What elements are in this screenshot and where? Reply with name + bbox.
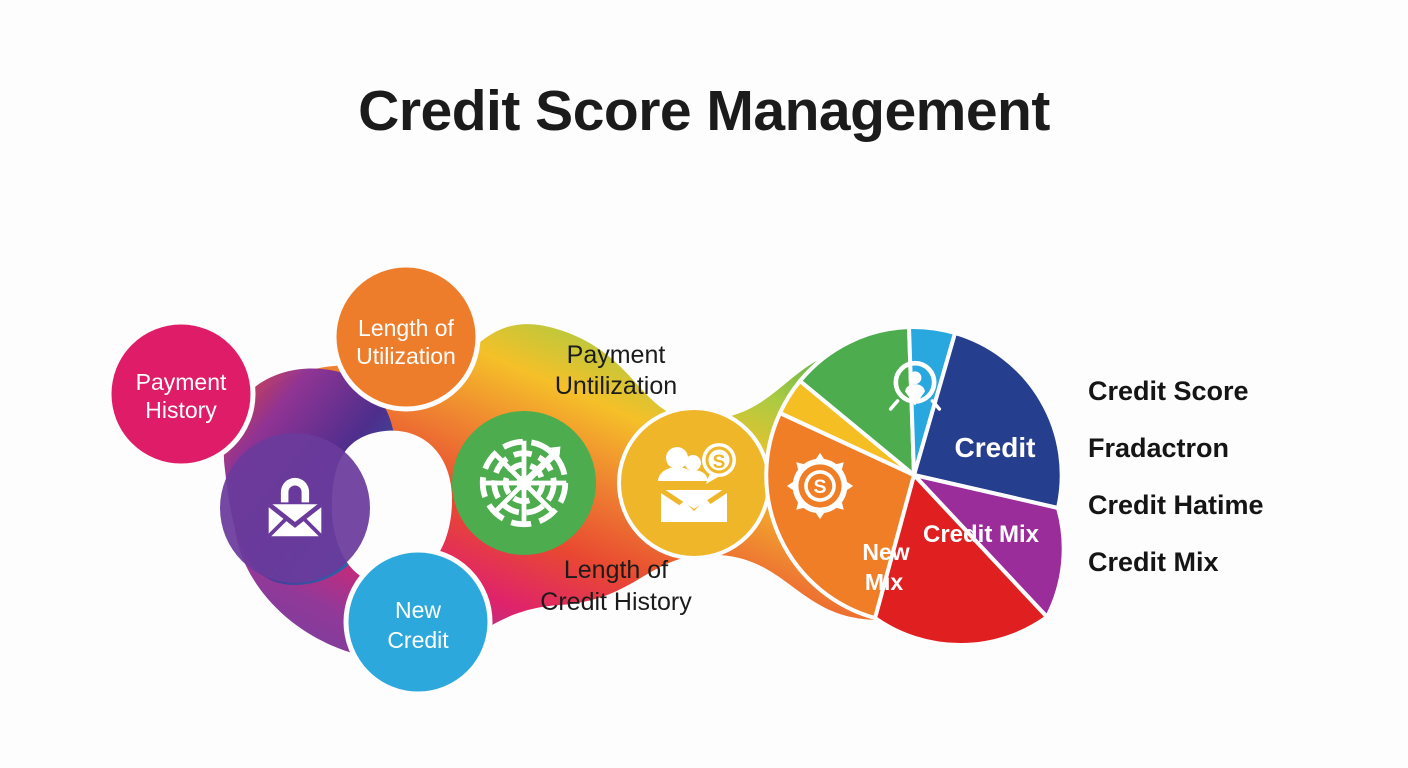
bubble-secure-mail[interactable]: [220, 433, 370, 583]
bubble-length-of-utilization-label-1: Length of: [358, 315, 455, 341]
bubble-length-of-utilization[interactable]: Length of Utilization: [334, 265, 478, 409]
pie-label-credit: Credit: [955, 432, 1036, 463]
bubble-payment-history[interactable]: Payment History: [109, 322, 253, 466]
gear-dollar-icon: [787, 453, 853, 519]
caption-payment-untilization-line-2: Untilization: [555, 372, 677, 400]
infographic-canvas: Credit Score Management: [0, 0, 1408, 768]
bubble-credit-target[interactable]: [452, 411, 596, 555]
bubble-length-of-utilization-label-2: Utilization: [356, 343, 456, 369]
bubble-payment-utilization-shape[interactable]: [619, 408, 769, 558]
bubble-payment-history-label-1: Payment: [136, 369, 227, 395]
caption-length-of-credit-history-line-2: Credit History: [540, 588, 692, 616]
legend-item-credit-mix[interactable]: Credit Mix: [1088, 547, 1219, 578]
bubble-payment-utilization[interactable]: [619, 408, 769, 558]
legend-item-fradactron[interactable]: Fradactron: [1088, 433, 1229, 464]
legend-item-credit-hatime[interactable]: Credit Hatime: [1088, 490, 1264, 521]
caption-length-of-credit-history-line-1: Length of: [564, 556, 668, 584]
caption-payment-untilization-line-1: Payment: [567, 341, 666, 369]
bubble-payment-history-label-2: History: [145, 397, 217, 423]
pie-label-new-mix-1: New: [862, 539, 909, 565]
bubble-new-credit-label-1: New: [395, 597, 441, 623]
pie-label-new-mix-2: Mix: [865, 569, 904, 595]
radar-target-icon: [482, 441, 566, 525]
pie-label-credit-mix: Credit Mix: [923, 521, 1040, 548]
bubble-new-credit[interactable]: New Credit: [346, 550, 490, 694]
bubble-new-credit-label-2: Credit: [387, 627, 449, 653]
legend-item-credit-score[interactable]: Credit Score: [1088, 376, 1249, 407]
